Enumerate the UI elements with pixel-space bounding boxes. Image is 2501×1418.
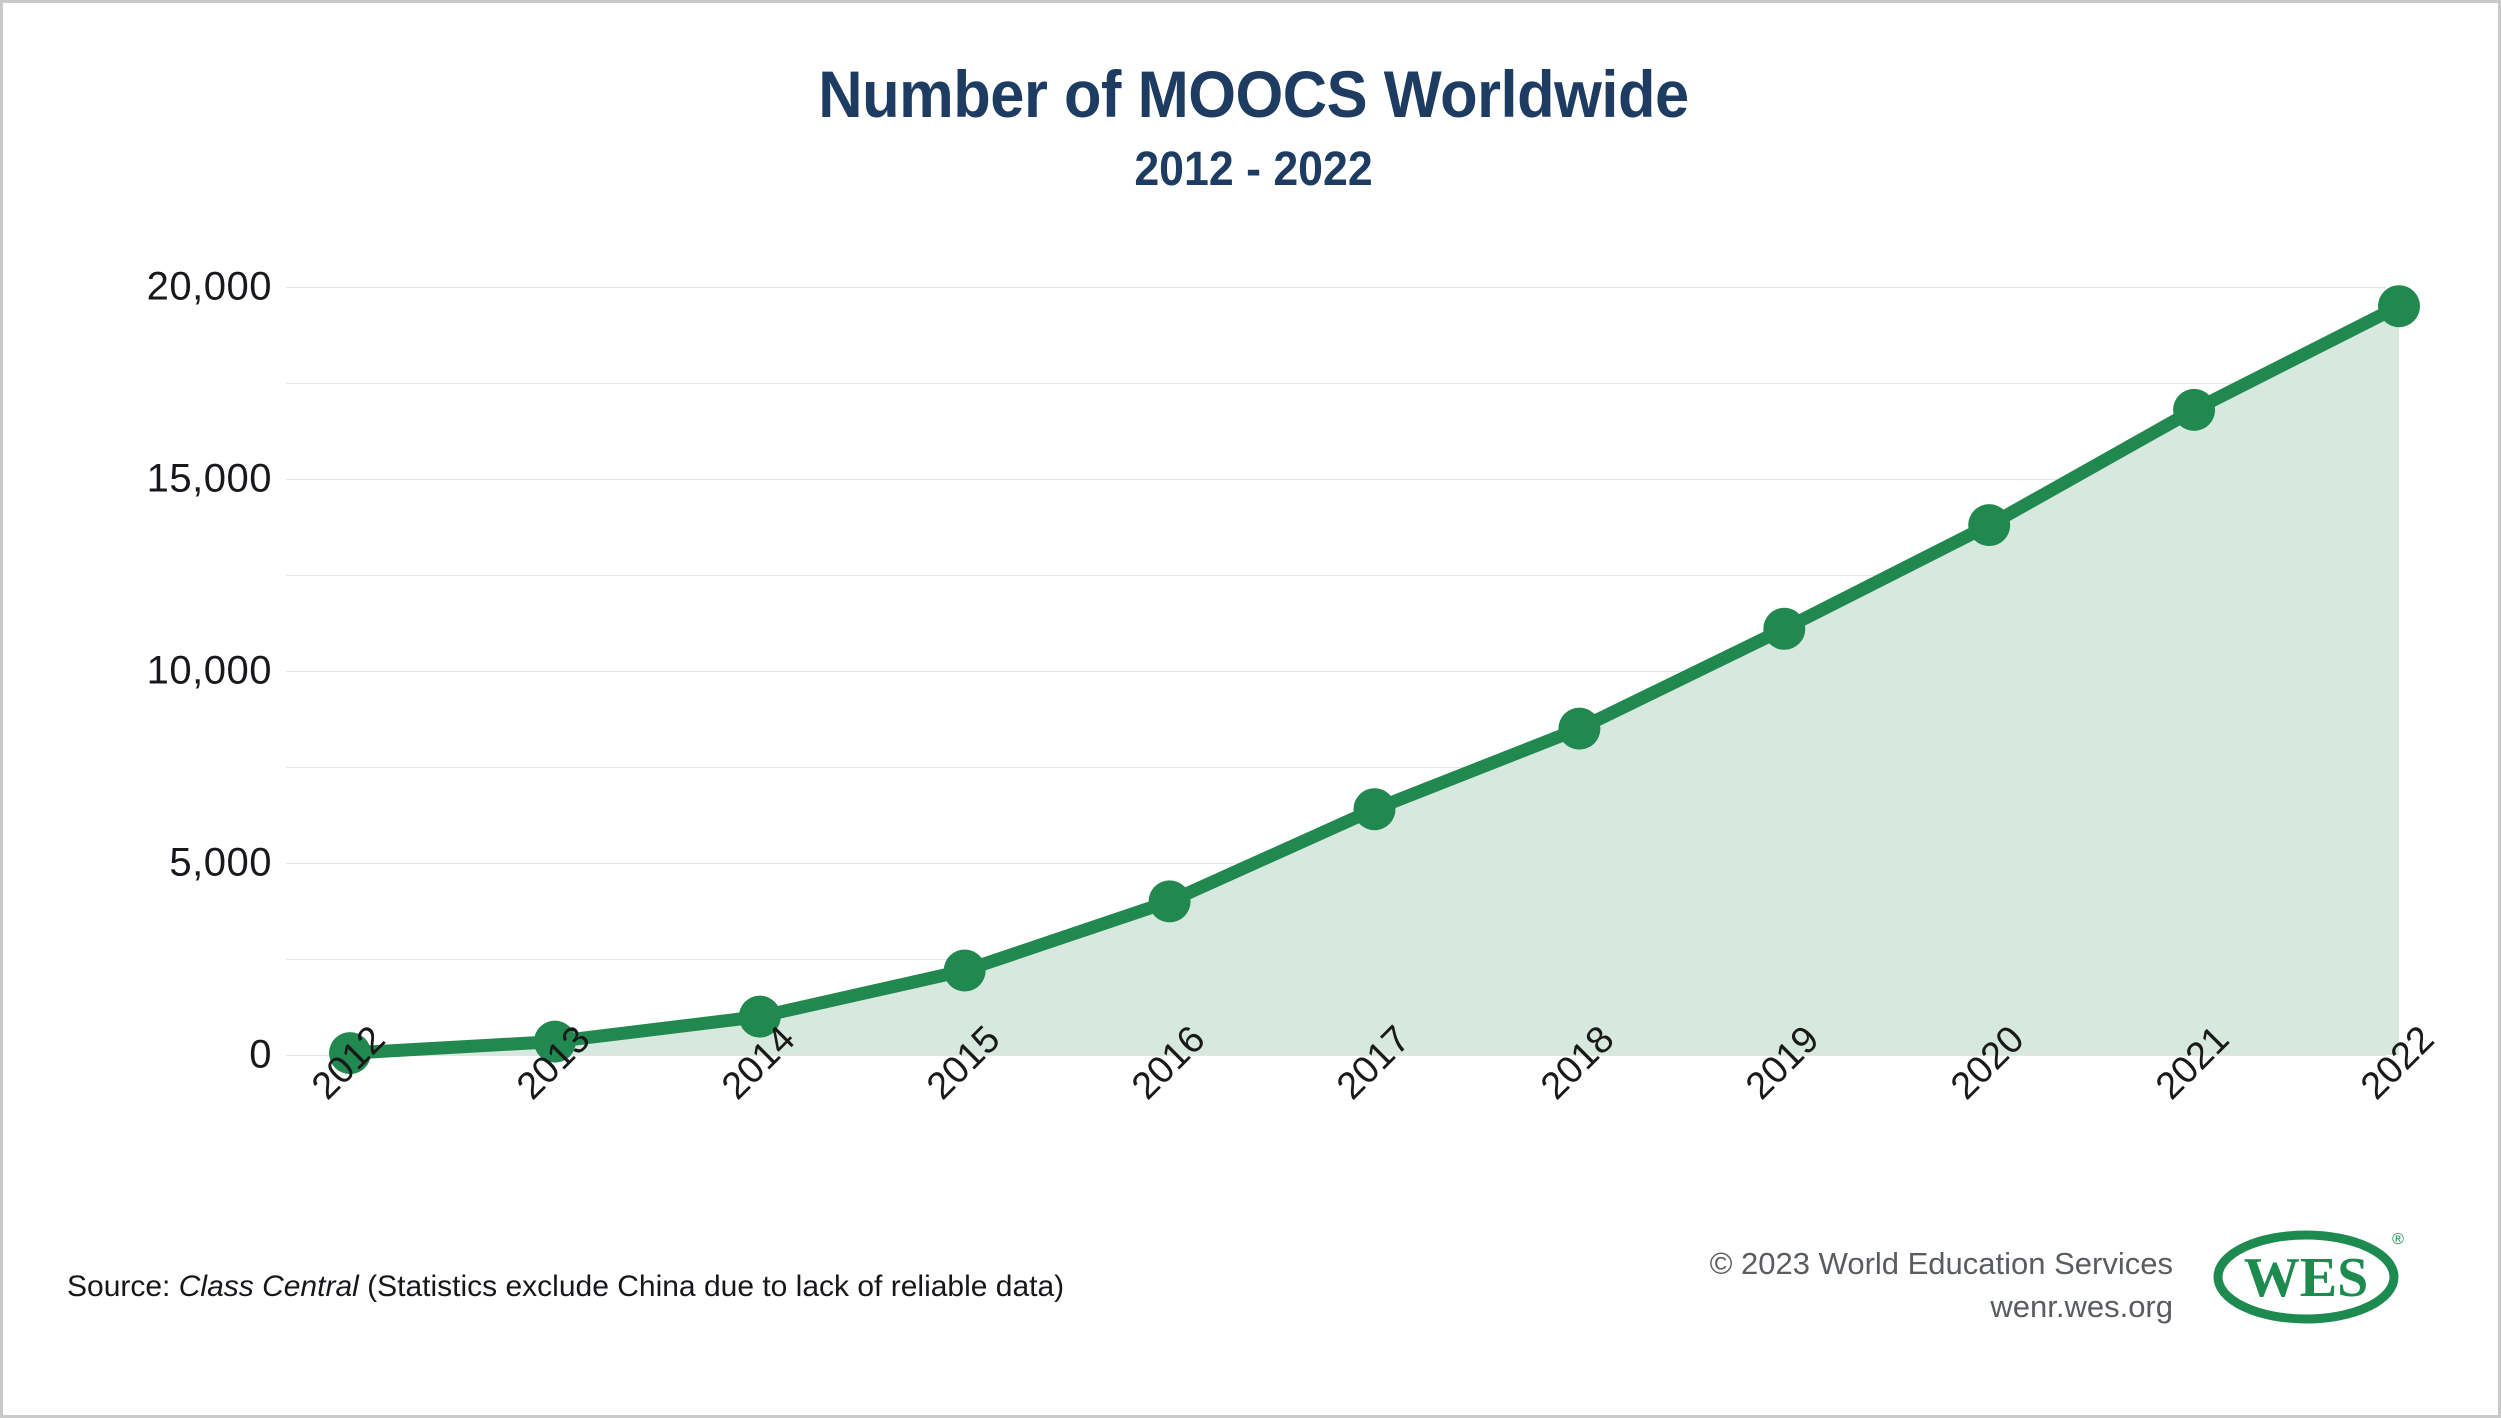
copyright-block: © 2023 World Education Services wenr.wes…	[1710, 1243, 2173, 1329]
data-point-marker[interactable]	[1968, 504, 2010, 546]
source-prefix: Source:	[67, 1270, 179, 1303]
title-block: Number of MOOCS Worldwide 2012 - 2022	[3, 61, 2501, 197]
registered-trademark-icon: ®	[2392, 1231, 2404, 1248]
source-note: Source: Class Central (Statistics exclud…	[67, 1270, 1064, 1304]
data-point-marker[interactable]	[2378, 285, 2420, 327]
wes-logo-text: WES	[2244, 1247, 2369, 1309]
wes-logo-icon: WES ®	[2206, 1222, 2416, 1324]
page-title: Number of MOOCS Worldwide	[91, 61, 2417, 128]
copyright-line: © 2023 World Education Services	[1710, 1243, 2173, 1286]
y-axis-tick-label: 0	[249, 1033, 272, 1078]
area-line-series	[286, 247, 2386, 1097]
y-axis-tick-label: 10,000	[147, 649, 272, 694]
data-point-marker[interactable]	[1354, 788, 1396, 830]
plot-area	[286, 287, 2386, 1055]
chart-canvas: Number of MOOCS Worldwide 2012 - 2022 05…	[0, 0, 2501, 1418]
y-axis-tick-label: 20,000	[147, 265, 272, 310]
data-point-marker[interactable]	[1149, 880, 1191, 922]
y-axis-tick-label: 5,000	[169, 841, 272, 886]
data-point-marker[interactable]	[1558, 708, 1600, 750]
source-publication: Class Central	[179, 1270, 359, 1303]
y-axis-tick-label: 15,000	[147, 457, 272, 502]
data-point-marker[interactable]	[2173, 389, 2215, 431]
data-point-marker[interactable]	[944, 950, 986, 992]
series-area-fill	[350, 306, 2399, 1055]
wes-logo: WES ®	[2206, 1222, 2416, 1324]
source-qualifier: (Statistics exclude China due to lack of…	[359, 1270, 1064, 1303]
chart-subtitle: 2012 - 2022	[91, 142, 2417, 197]
data-point-marker[interactable]	[1763, 608, 1805, 650]
website-line: wenr.wes.org	[1710, 1286, 2173, 1329]
